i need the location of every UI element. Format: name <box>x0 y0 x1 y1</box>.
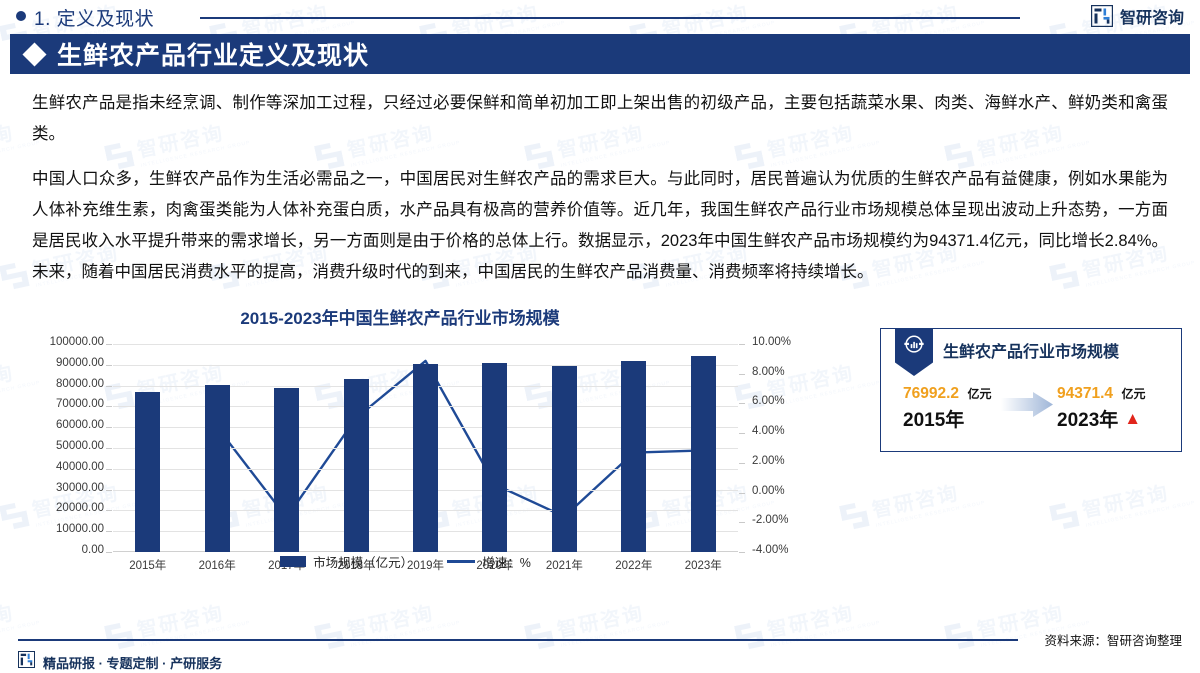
bar-2021年 <box>552 366 577 552</box>
y-axis-right-label: 2.00% <box>752 455 785 467</box>
y-axis-label: 100000.00 <box>20 336 104 348</box>
infocard-left-year: 2015年 <box>903 405 992 432</box>
y-axis-right-tick <box>739 552 745 553</box>
page-footer: 资料来源：智研咨询整理 精品研报 · 专题定制 · 产研服务 <box>0 629 1200 673</box>
footer-tagline: 精品研报 · 专题定制 · 产研服务 <box>43 653 222 672</box>
infocard-left-unit: 亿元 <box>967 387 991 401</box>
y-axis-tick <box>106 344 112 345</box>
page-header: 1. 定义及现状 智研咨询 <box>0 0 1200 32</box>
y-axis-label: 30000.00 <box>20 482 104 494</box>
chart-zone: 2015-2023年中国生鲜农产品行业市场规模 2015年2016年2017年2… <box>0 300 1200 618</box>
y-axis-right-tick <box>739 344 745 345</box>
chart-badge-icon <box>895 328 933 376</box>
bar-2019年 <box>413 364 438 552</box>
y-axis-tick <box>106 365 112 366</box>
infocard-right-year: 2023年 <box>1057 405 1118 432</box>
y-axis-right-label: 8.00% <box>752 366 785 378</box>
zhiyan-logo-icon <box>1091 5 1113 27</box>
header-divider <box>200 17 1020 19</box>
y-axis-label: 90000.00 <box>20 357 104 369</box>
y-axis-right-label: -2.00% <box>752 514 788 526</box>
y-axis-tick <box>106 386 112 387</box>
right-arrow-icon <box>999 391 1055 421</box>
y-axis-label: 10000.00 <box>20 523 104 535</box>
footer-divider <box>18 639 1018 641</box>
infocard-right-unit: 亿元 <box>1121 387 1145 401</box>
y-axis-label: 20000.00 <box>20 502 104 514</box>
bar-2022年 <box>621 361 646 552</box>
y-axis-label: 80000.00 <box>20 378 104 390</box>
y-axis-label: 0.00 <box>20 544 104 556</box>
section-title-band: 生鲜农产品行业定义及现状 <box>10 34 1190 74</box>
y-axis-tick <box>106 490 112 491</box>
bar-2023年 <box>691 356 716 552</box>
infocard-left-stat: 76992.2 亿元 2015年 <box>903 385 992 432</box>
y-axis-right-label: -4.00% <box>752 544 788 556</box>
infocard-right-value-row: 94371.4 亿元 <box>1057 385 1146 403</box>
infocard-right-year-row: 2023年 ▲ <box>1057 405 1146 432</box>
bar-2018年 <box>344 379 369 552</box>
paragraph-1: 生鲜农产品是指未经烹调、制作等深加工过程，只经过必要保鲜和简单初加工即上架出售的… <box>32 88 1168 150</box>
market-size-chart: 2015年2016年2017年2018年2019年2020年2021年2022年… <box>20 334 820 584</box>
bar-2015年 <box>135 392 160 552</box>
bar-2017年 <box>274 388 299 552</box>
infocard-title: 生鲜农产品行业市场规模 <box>943 338 1119 362</box>
bar-2016年 <box>205 385 230 552</box>
legend-item-market-size: 市场规模（亿元） <box>280 552 413 571</box>
market-size-summary-card: 生鲜农产品行业市场规模 76992.2 亿元 2015年 943 <box>880 328 1182 452</box>
up-arrow-icon: ▲ <box>1124 410 1141 427</box>
y-axis-right-tick <box>739 403 745 404</box>
chart-legend: 市场规模（亿元） 增速：% <box>93 552 718 571</box>
y-axis-tick <box>106 448 112 449</box>
y-axis-tick <box>106 406 112 407</box>
infocard-left-value: 76992.2 <box>903 385 959 402</box>
legend-label-market-size: 市场规模（亿元） <box>313 552 413 571</box>
y-axis-label: 70000.00 <box>20 398 104 410</box>
gridline <box>113 344 738 345</box>
bullet-dot-icon <box>16 11 26 21</box>
footer-brand: 精品研报 · 专题定制 · 产研服务 <box>18 651 222 673</box>
paragraph-2: 中国人口众多，生鲜农产品作为生活必需品之一，中国居民对生鲜农产品的需求巨大。与此… <box>32 164 1168 288</box>
y-axis-right-tick <box>739 463 745 464</box>
infocard-right-stat: 94371.4 亿元 2023年 ▲ <box>1057 385 1146 432</box>
chart-title: 2015-2023年中国生鲜农产品行业市场规模 <box>0 304 800 329</box>
body-text: 生鲜农产品是指未经烹调、制作等深加工过程，只经过必要保鲜和简单初加工即上架出售的… <box>32 88 1168 288</box>
legend-swatch-bar-icon <box>280 556 306 567</box>
diamond-icon <box>22 42 46 66</box>
y-axis-right-label: 4.00% <box>752 425 785 437</box>
bar-2020年 <box>482 363 507 552</box>
y-axis-tick <box>106 510 112 511</box>
y-axis-right-tick <box>739 522 745 523</box>
band-title: 生鲜农产品行业定义及现状 <box>57 36 369 72</box>
y-axis-right-label: 6.00% <box>752 395 785 407</box>
y-axis-label: 60000.00 <box>20 419 104 431</box>
y-axis-right-label: 10.00% <box>752 336 791 348</box>
section-label: 1. 定义及现状 <box>34 4 154 31</box>
y-axis-tick <box>106 531 112 532</box>
zhiyan-logo-icon <box>18 651 35 673</box>
y-axis-tick <box>106 427 112 428</box>
brand-name: 智研咨询 <box>1120 4 1184 28</box>
y-axis-right-tick <box>739 433 745 434</box>
infocard-left-value-row: 76992.2 亿元 <box>903 385 992 403</box>
y-axis-label: 50000.00 <box>20 440 104 452</box>
y-axis-tick <box>106 469 112 470</box>
infocard-right-value: 94371.4 <box>1057 385 1113 402</box>
legend-label-growth: 增速：% <box>482 552 531 571</box>
y-axis-label: 40000.00 <box>20 461 104 473</box>
y-axis-right-tick <box>739 374 745 375</box>
y-axis-right-tick <box>739 493 745 494</box>
legend-item-growth: 增速：% <box>447 552 531 571</box>
brand-block: 智研咨询 <box>1091 4 1184 28</box>
y-axis-right-label: 0.00% <box>752 485 785 497</box>
plot-area: 2015年2016年2017年2018年2019年2020年2021年2022年… <box>113 344 738 552</box>
legend-swatch-line-icon <box>447 560 475 563</box>
source-note: 资料来源：智研咨询整理 <box>1044 630 1182 649</box>
